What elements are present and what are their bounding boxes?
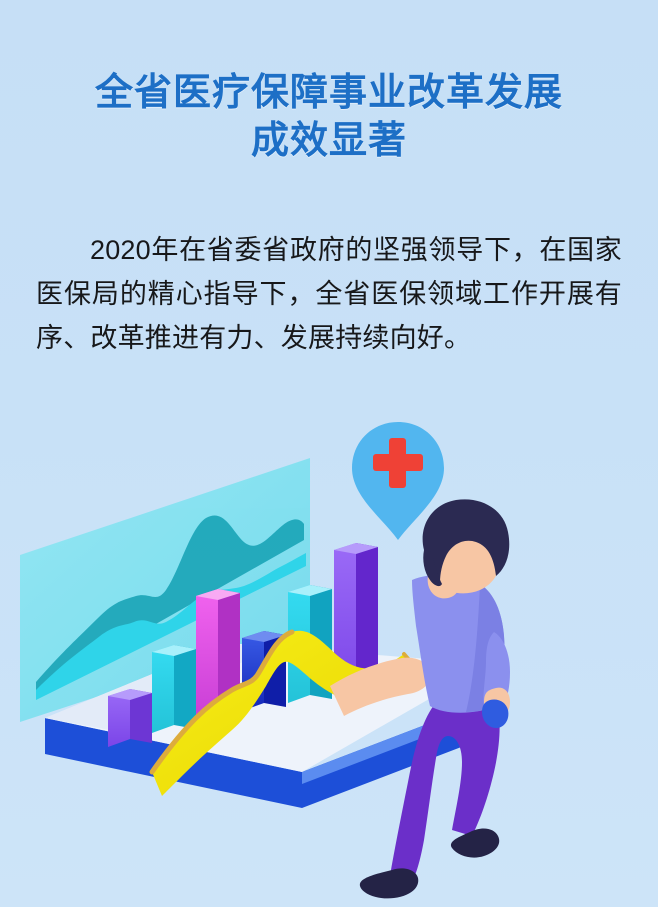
person-shoes <box>360 829 499 899</box>
bar-1 <box>108 689 152 747</box>
person-head <box>423 499 510 593</box>
bar-2 <box>152 645 196 733</box>
poster-root: 全省医疗保障事业改革发展 成效显著 2020年在省委省政府的坚强领导下，在国家医… <box>0 0 658 907</box>
page-title-line-1: 全省医疗保障事业改革发展 <box>0 70 658 118</box>
body-paragraph: 2020年在省委省政府的坚强领导下，在国家医保局的精心指导下，全省医保领域工作开… <box>36 228 622 360</box>
page-title-line-2: 成效显著 <box>0 118 658 166</box>
illustration <box>0 400 658 907</box>
page-title: 全省医疗保障事业改革发展 成效显著 <box>0 70 658 166</box>
body-text: 2020年在省委省政府的坚强领导下，在国家医保局的精心指导下，全省医保领域工作开… <box>36 228 622 360</box>
